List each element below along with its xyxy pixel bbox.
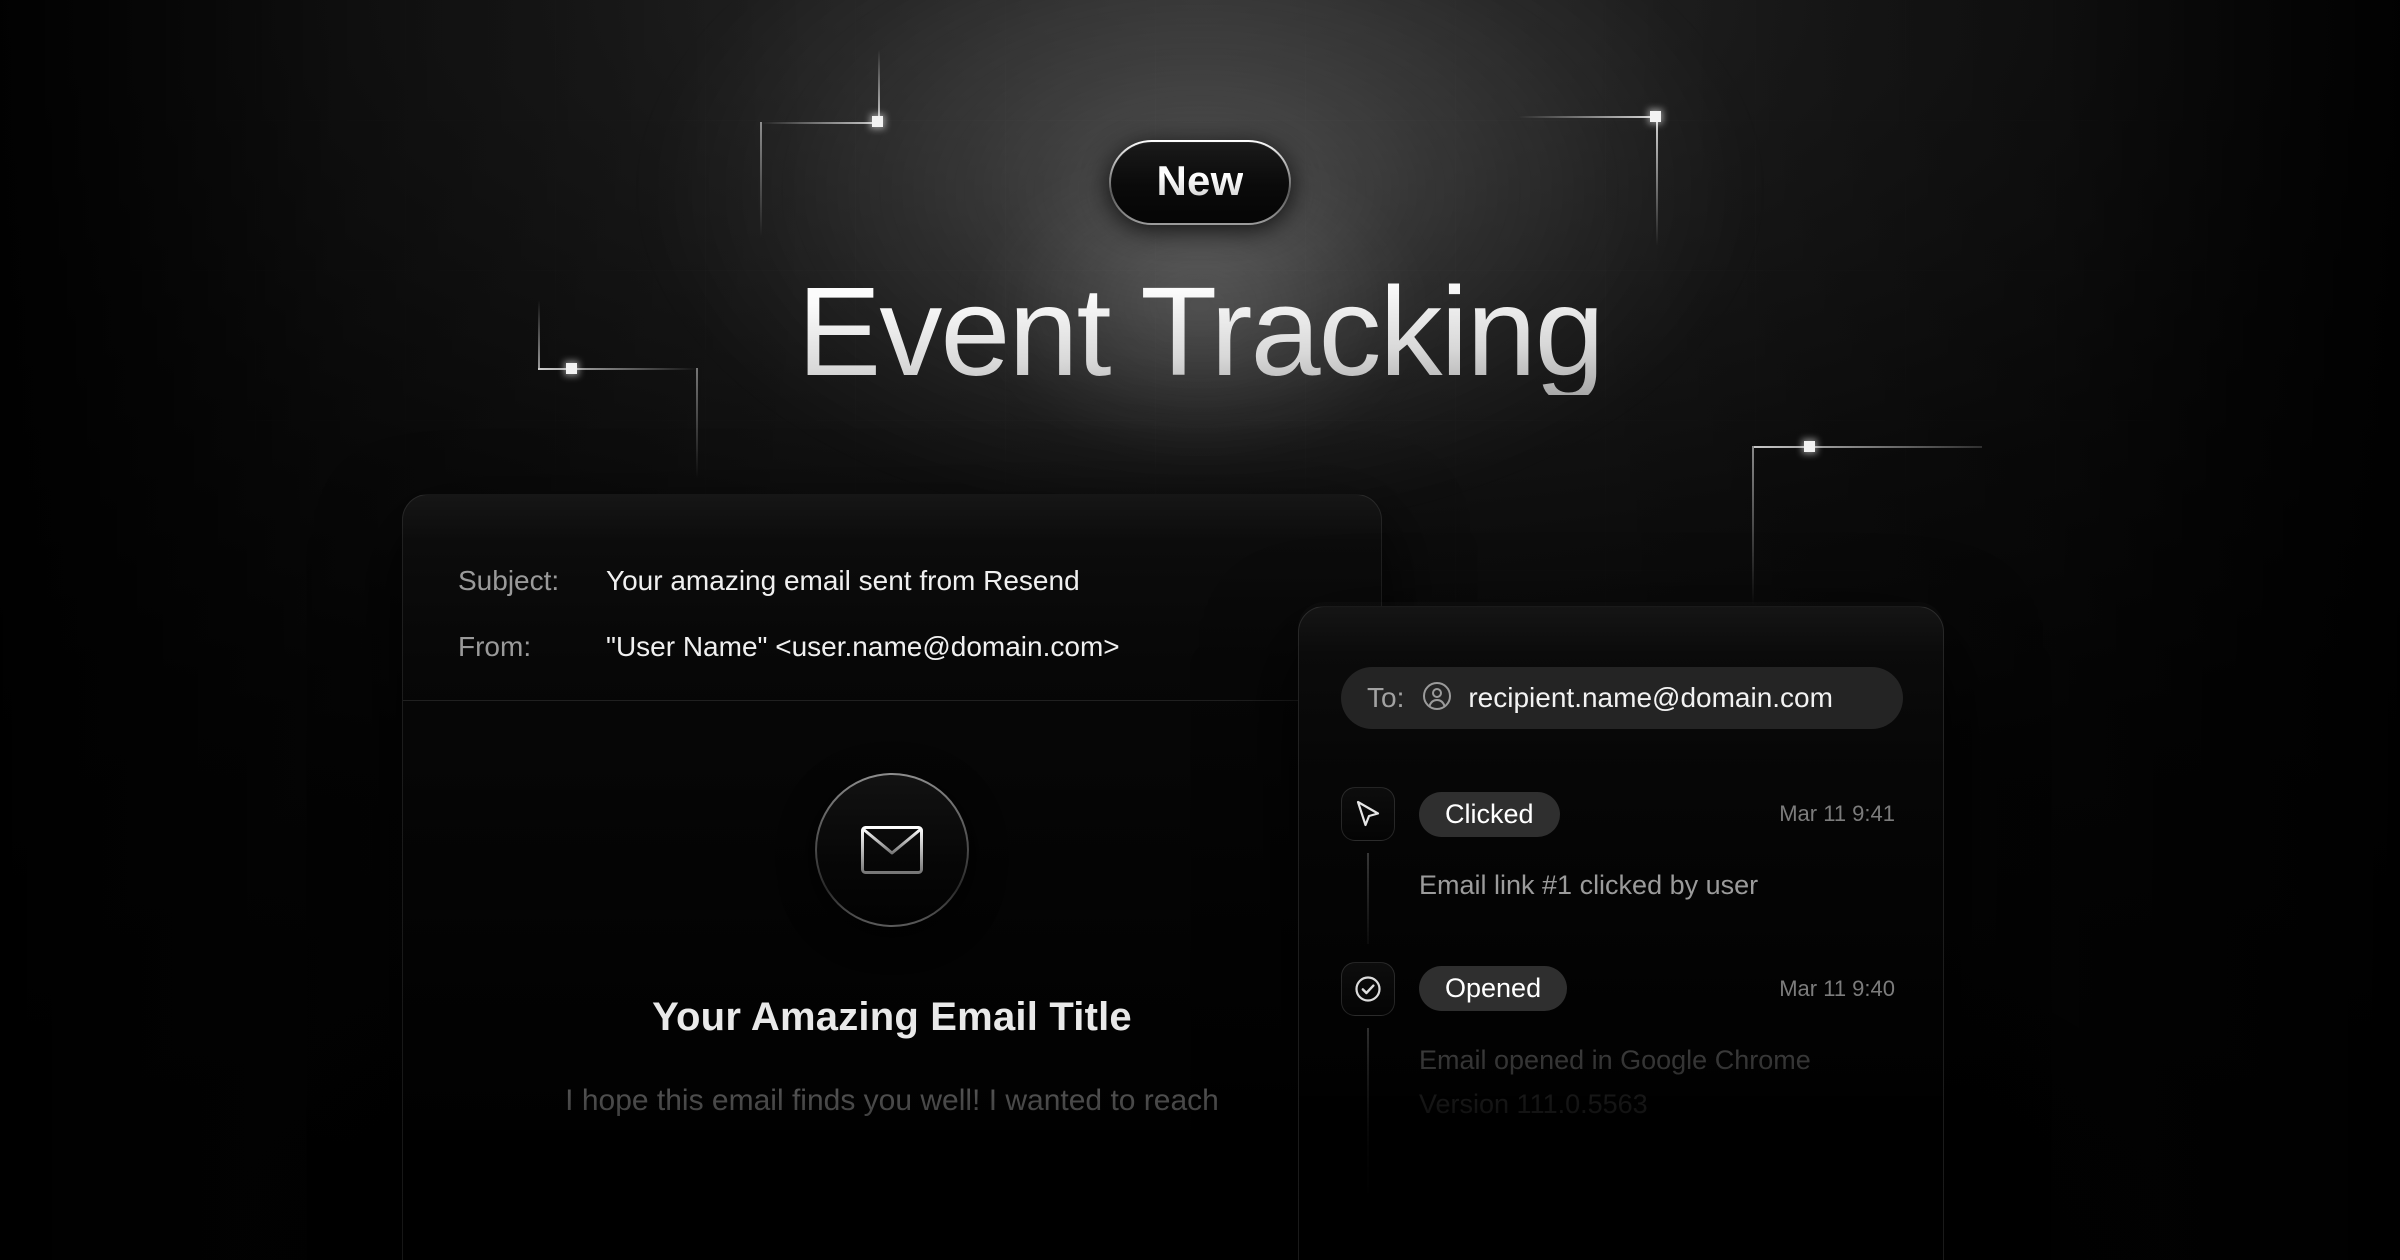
event-connector-line <box>1367 1028 1369 1193</box>
event-description-line2: Version 111.0.5563 <box>1419 1086 1913 1123</box>
new-badge[interactable]: New <box>1109 140 1292 225</box>
event-status-badge: Clicked <box>1419 792 1560 837</box>
recipient-value: recipient.name@domain.com <box>1468 682 1833 714</box>
event-opened-header: Opened Mar 11 9:40 <box>1419 962 1913 1016</box>
email-body-text: I hope this email finds you well! I want… <box>403 1084 1381 1118</box>
event-clicked-header: Clicked Mar 11 9:41 <box>1419 787 1913 841</box>
check-circle-icon <box>1341 962 1395 1016</box>
event-connector-line <box>1367 853 1369 944</box>
email-body-title: Your Amazing Email Title <box>403 995 1381 1040</box>
email-subject-label: Subject: <box>458 565 606 597</box>
email-from-row: From: "User Name" <user.name@domain.com> <box>458 631 1381 663</box>
email-from-label: From: <box>458 631 606 663</box>
cursor-arrow-icon <box>1341 787 1395 841</box>
email-subject-value: Your amazing email sent from Resend <box>606 565 1080 597</box>
email-preview-card: Subject: Your amazing email sent from Re… <box>402 494 1382 1260</box>
event-list: Clicked Mar 11 9:41 Email link #1 clicke… <box>1341 787 1913 1131</box>
event-item-opened[interactable]: Opened Mar 11 9:40 Email opened in Googl… <box>1341 962 1913 1123</box>
avatar-icon <box>1422 681 1452 716</box>
new-badge-label: New <box>1157 157 1244 204</box>
event-tracking-panel: To: recipient.name@domain.com <box>1298 606 1944 1260</box>
email-from-value: "User Name" <user.name@domain.com> <box>606 631 1120 663</box>
event-item-clicked[interactable]: Clicked Mar 11 9:41 Email link #1 clicke… <box>1341 787 1913 904</box>
hero-header: New Event Tracking <box>0 0 2400 395</box>
email-header: Subject: Your amazing email sent from Re… <box>403 495 1381 663</box>
page-title: Event Tracking <box>0 269 2400 395</box>
event-status-badge: Opened <box>1419 966 1567 1011</box>
email-subject-row: Subject: Your amazing email sent from Re… <box>458 565 1381 597</box>
recipient-field[interactable]: To: recipient.name@domain.com <box>1341 667 1903 729</box>
email-body: Your Amazing Email Title I hope this ema… <box>403 701 1381 1118</box>
corner-marker-right <box>1752 430 1982 600</box>
event-description-line1: Email opened in Google Chrome <box>1419 1042 1913 1079</box>
event-description: Email link #1 clicked by user <box>1419 867 1913 904</box>
envelope-icon <box>815 773 969 927</box>
event-timestamp: Mar 11 9:40 <box>1779 976 1913 1002</box>
recipient-label: To: <box>1367 682 1404 714</box>
hero-scene: New Event Tracking Subject: Your amazing… <box>0 0 2400 1260</box>
event-timestamp: Mar 11 9:41 <box>1779 801 1913 827</box>
